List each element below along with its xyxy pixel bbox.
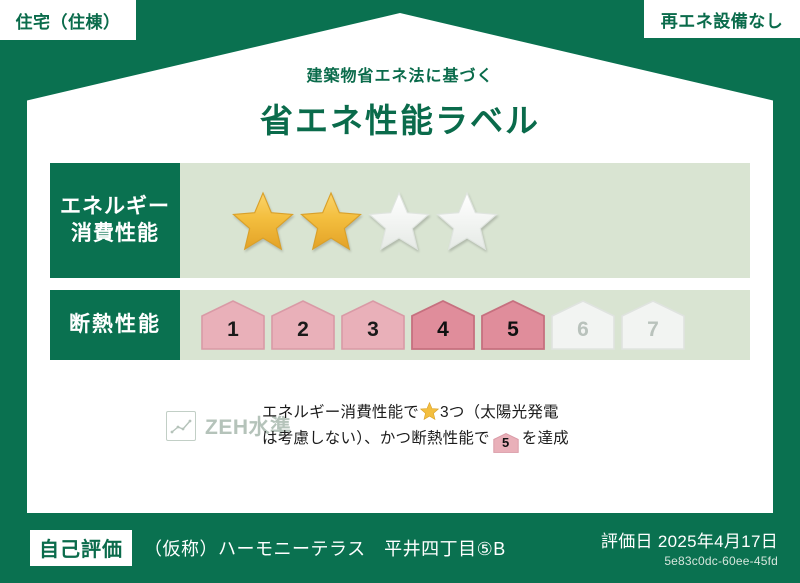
star-filled-icon [300, 191, 362, 251]
insulation-level-chip: 1 [200, 299, 266, 351]
evaluation-date: 評価日 2025年4月17日 [601, 527, 778, 552]
insulation-level-number: 2 [297, 318, 309, 351]
zeh-desc-line2-b: を達成 [522, 430, 569, 447]
insulation-level-chip: 3 [340, 299, 406, 351]
star-filled-icon [232, 191, 294, 251]
insulation-level-number: 7 [647, 318, 659, 351]
insulation-performance-label: 断熱性能 [50, 290, 180, 360]
zeh-desc-part1: エネルギー消費性能で [262, 404, 419, 421]
insulation-level-chip: 5 [480, 299, 546, 351]
energy-label-line2: 消費性能 [71, 221, 159, 248]
zeh-desc-line2-a: は考慮しない）、かつ断熱性能で [262, 430, 490, 447]
zeh-chart-icon [166, 411, 196, 441]
insulation-level-chip: 4 [410, 299, 476, 351]
footer-right: 評価日 2025年4月17日 5e83c0dc-60ee-45fd [601, 527, 778, 568]
energy-performance-row: エネルギー 消費性能 [50, 163, 750, 278]
zeh-description: エネルギー消費性能で3つ（太陽光発電は考慮しない）、かつ断熱性能で5を達成 [262, 400, 750, 452]
energy-label-line1: エネルギー [60, 194, 170, 221]
insulation-level-number: 3 [367, 318, 379, 351]
insulation-level-chip: 6 [550, 299, 616, 351]
energy-stars-container [180, 163, 750, 278]
star-inline-icon [420, 402, 439, 420]
insulation-performance-row: 断熱性能 1 2 3 [50, 290, 750, 360]
insulation-level-inline-chip: 5 [493, 432, 519, 451]
tag-building-type: 住宅（住棟） [0, 0, 136, 40]
energy-performance-label: 住宅（住棟） 再エネ設備なし 建築物省エネ法に基づく 省エネ性能ラベル エネルギ… [0, 0, 800, 583]
star-empty-icon [436, 191, 498, 251]
page-title: 省エネ性能ラベル [0, 94, 800, 142]
insulation-level-number: 1 [227, 318, 239, 351]
tag-renewable-energy: 再エネ設備なし [644, 0, 800, 38]
project-name: （仮称）ハーモニーテラス 平井四丁目⑤B [144, 535, 506, 561]
evaluation-id: 5e83c0dc-60ee-45fd [601, 554, 778, 568]
footer: 自己評価 （仮称）ハーモニーテラス 平井四丁目⑤B 評価日 2025年4月17日… [0, 513, 800, 583]
footer-left: 自己評価 （仮称）ハーモニーテラス 平井四丁目⑤B [30, 530, 506, 566]
insulation-level-number: 5 [507, 318, 519, 351]
star-empty-icon [368, 191, 430, 251]
insulation-level-chip: 2 [270, 299, 336, 351]
insulation-level-number: 6 [577, 318, 589, 351]
zeh-logo: ZEH水準 [50, 411, 262, 441]
status-badge: 自己評価 [30, 530, 132, 566]
insulation-level-chip: 7 [620, 299, 686, 351]
zeh-desc-star-count: 3つ（太陽光発電 [440, 404, 559, 421]
title-block: 建築物省エネ法に基づく 省エネ性能ラベル [0, 62, 800, 142]
insulation-level-number: 4 [437, 318, 449, 351]
label-subtitle: 建築物省エネ法に基づく [0, 62, 800, 86]
insulation-levels-container: 1 2 3 4 [180, 290, 750, 360]
zeh-standard-block: ZEH水準 エネルギー消費性能で3つ（太陽光発電は考慮しない）、かつ断熱性能で5… [50, 400, 750, 452]
energy-performance-label: エネルギー 消費性能 [50, 163, 180, 278]
insulation-level-inline-value: 5 [493, 432, 519, 454]
